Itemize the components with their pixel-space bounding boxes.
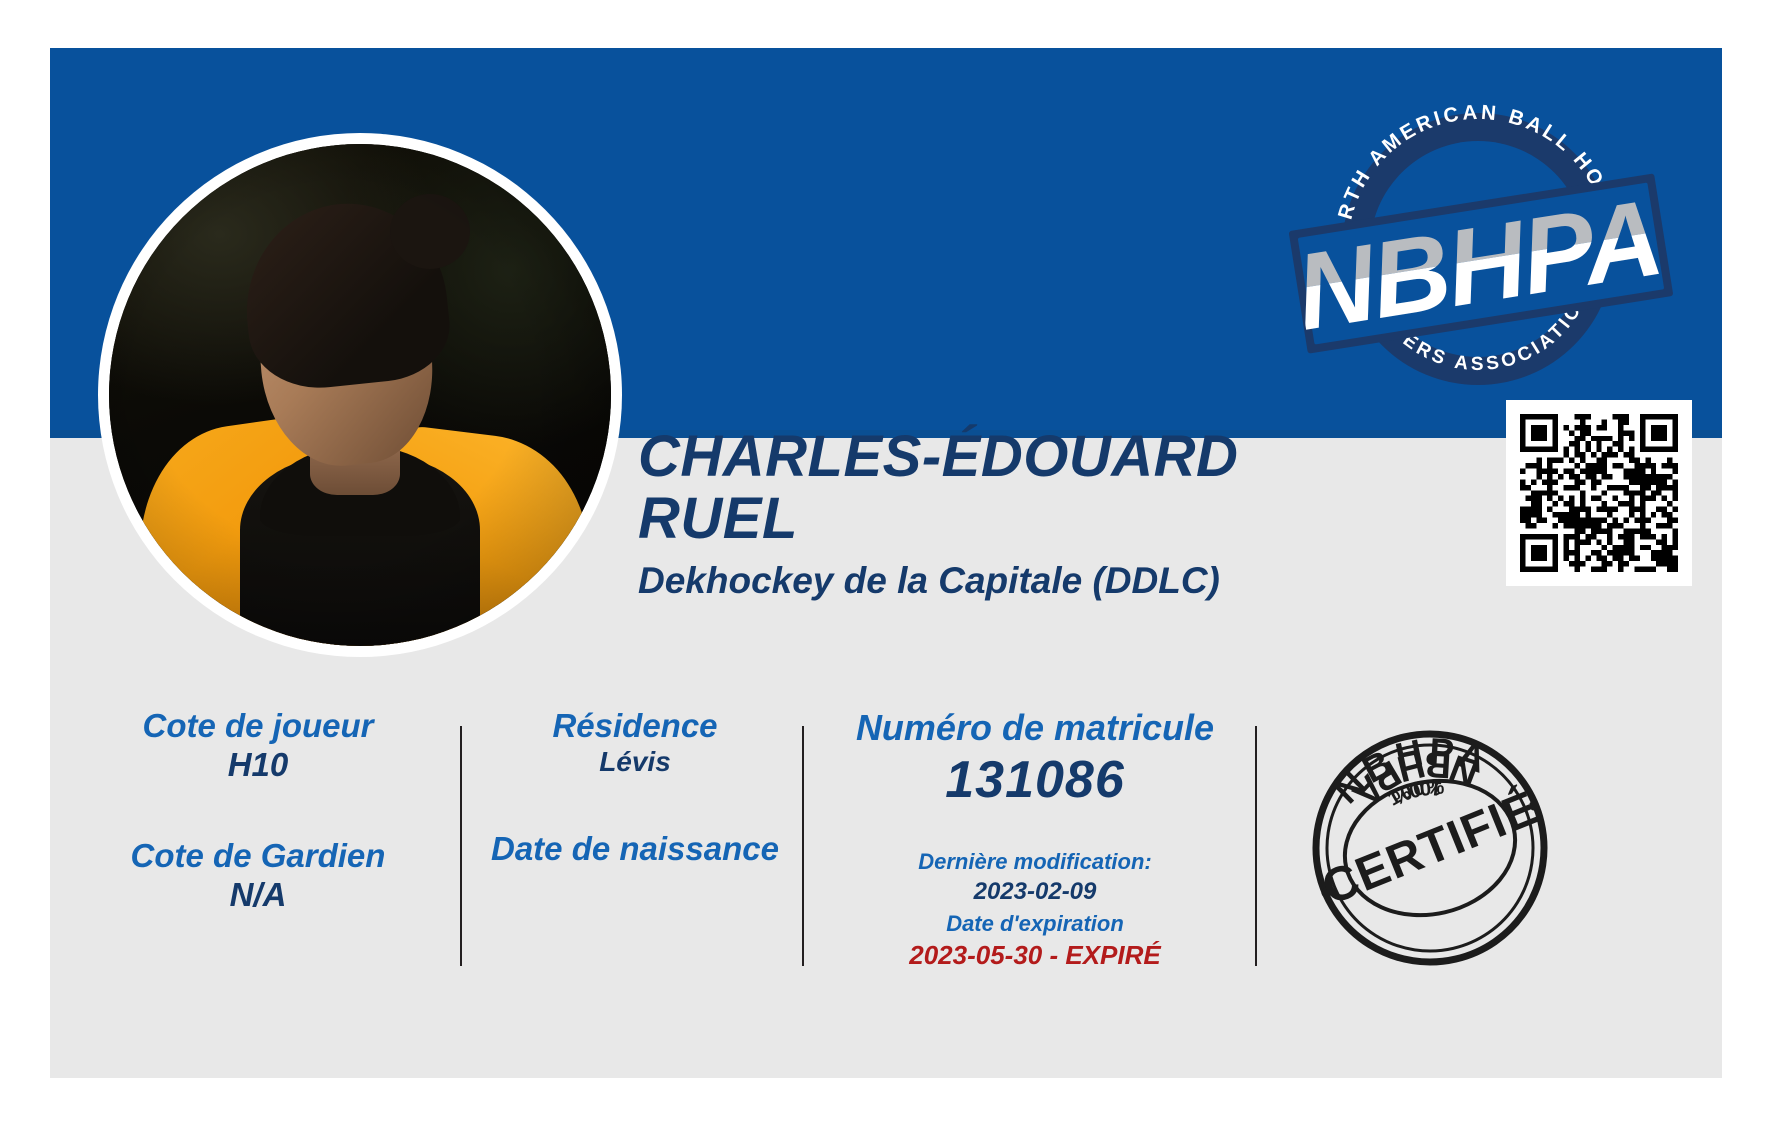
certified-stamp: NBHPA NBHPA 100% 100% CERTIFIÉ: [1285, 708, 1575, 978]
expiration-label: Date d'expiration: [820, 909, 1250, 939]
player-photo: [109, 144, 611, 646]
spacer: [480, 779, 790, 831]
nbhpa-logo: NORTH AMERICAN BALL HOCKEY PLAYERS ASSOC…: [1278, 74, 1678, 394]
player-rating-value: H10: [78, 744, 438, 785]
matricule-label: Numéro de matricule: [820, 708, 1250, 748]
ratings-column: Cote de joueur H10 Cote de Gardien N/A: [78, 708, 438, 976]
spacer: [820, 813, 1250, 847]
column-divider-2: [802, 726, 804, 966]
player-name-block: CHARLES-ÉDOUARD RUEL Dekhockey de la Cap…: [638, 426, 1358, 602]
avatar: [98, 133, 622, 657]
last-modified-value: 2023-02-09: [820, 876, 1250, 908]
player-rating-label: Cote de joueur: [78, 708, 438, 744]
birthdate-label: Date de naissance: [480, 831, 790, 867]
column-divider-3: [1255, 726, 1257, 966]
player-first-name: CHARLES-ÉDOUARD: [638, 426, 1358, 488]
residence-column: Résidence Lévis Date de naissance: [480, 708, 790, 976]
residence-label: Résidence: [480, 708, 790, 744]
goalie-rating-label: Cote de Gardien: [78, 838, 438, 874]
player-last-name: RUEL: [638, 488, 1358, 550]
player-team: Dekhockey de la Capitale (DDLC): [638, 560, 1358, 602]
qr-code[interactable]: [1506, 400, 1692, 586]
qr-code-icon: [1520, 414, 1678, 572]
expiration-value: 2023-05-30 - EXPIRÉ: [820, 938, 1250, 973]
last-modified-label: Dernière modification:: [820, 847, 1250, 877]
residence-value: Lévis: [480, 744, 790, 779]
spacer: [78, 786, 438, 838]
goalie-rating-value: N/A: [78, 874, 438, 915]
matricule-column: Numéro de matricule 131086 Dernière modi…: [820, 708, 1250, 976]
column-divider-1: [460, 726, 462, 966]
matricule-value: 131086: [820, 748, 1250, 813]
player-id-card: NORTH AMERICAN BALL HOCKEY PLAYERS ASSOC…: [50, 48, 1722, 1078]
photo-vignette: [109, 144, 611, 646]
